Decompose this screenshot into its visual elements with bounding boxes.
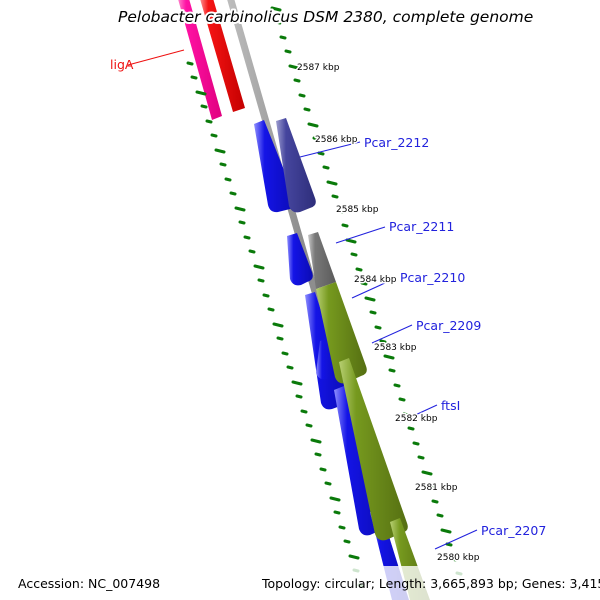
gene-label-pcar-2212[interactable]: Pcar_2212: [364, 135, 429, 150]
gene-label-pcar-2211[interactable]: Pcar_2211: [389, 219, 454, 234]
page-title: Pelobacter carbinolicus DSM 2380, comple…: [118, 8, 533, 26]
ruler-label-2580: 2580 kbp: [437, 553, 480, 563]
ruler-label-2581: 2581 kbp: [415, 483, 458, 493]
gene-label-pcar-2207[interactable]: Pcar_2207: [481, 523, 546, 538]
gene-label-pcar-2210[interactable]: Pcar_2210: [400, 270, 465, 285]
page-title-text: Pelobacter carbinolicus DSM 2380, comple…: [118, 8, 533, 26]
gene-label-liga[interactable]: ligA: [110, 57, 134, 72]
ruler-label-2584: 2584 kbp: [354, 275, 397, 285]
circular-genome-plot[interactable]: 2587 kbp 2587 kbp 2586 kbp 2586 kbp 2585…: [0, 0, 600, 600]
leader-pcar-2211: [336, 227, 385, 243]
ruler-label-2587: 2587 kbp: [297, 63, 340, 73]
leader-pcar-2207: [435, 530, 477, 549]
status-bar: Accession: NC_007498 Topology: circular;…: [0, 566, 600, 600]
ruler-label-2582: 2582 kbp: [395, 414, 438, 424]
gene-label-pcar-2209[interactable]: Pcar_2209: [416, 318, 481, 333]
ruler-label-2586: 2586 kbp: [315, 135, 358, 145]
gene-label-ftsi[interactable]: ftsI: [441, 398, 460, 413]
leader-liga: [128, 50, 184, 65]
ruler-label-2583: 2583 kbp: [374, 343, 417, 353]
feature-leader-lines: [128, 50, 477, 549]
genome-map-canvas[interactable]: 2587 kbp 2587 kbp 2586 kbp 2586 kbp 2585…: [0, 0, 600, 600]
genome-stats-label: Topology: circular; Length: 3,665,893 bp…: [262, 576, 600, 591]
accession-label: Accession: NC_007498: [18, 576, 160, 591]
ruler-label-2585: 2585 kbp: [336, 205, 379, 215]
